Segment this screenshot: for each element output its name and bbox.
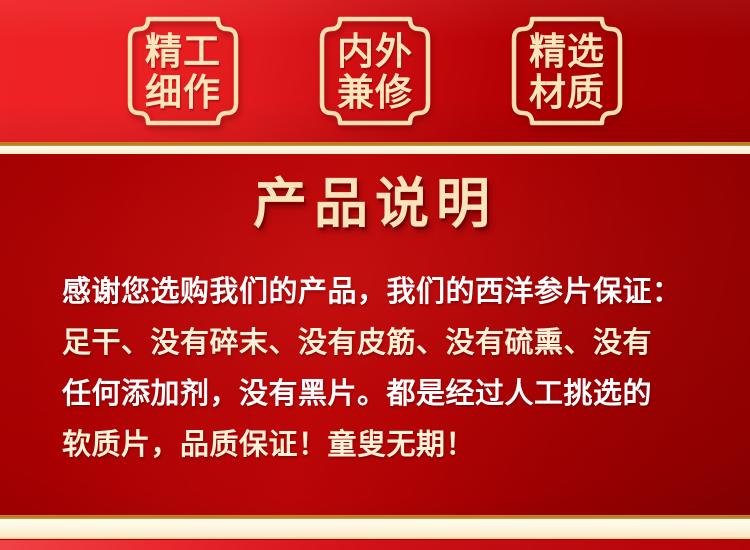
- feature-badge-3-line2: 材质: [529, 72, 605, 112]
- divider-cream-band: [0, 519, 750, 537]
- bottom-red-strip: [0, 540, 750, 550]
- page-title: 产品说明: [0, 172, 750, 234]
- bottom-gold-divider: [0, 515, 750, 540]
- feature-badge-1-line1: 精工: [145, 31, 221, 71]
- feature-badge-row: 精工 细作 内外 兼修 精选 材质: [0, 0, 750, 142]
- product-description-poster: 精工 细作 内外 兼修 精选 材质: [0, 0, 750, 550]
- feature-badge-2-text: 内外 兼修: [318, 15, 432, 127]
- body-line-4: 软质片，品质保证！童叟无期！: [62, 419, 702, 470]
- top-gold-divider: [0, 142, 750, 154]
- product-description-body: 感谢您选购我们的产品，我们的西洋参片保证： 足干、没有碎末、没有皮筋、没有硫熏、…: [62, 266, 702, 470]
- feature-badge-1-text: 精工 细作: [126, 15, 240, 127]
- feature-badge-2: 内外 兼修: [318, 15, 432, 127]
- feature-badge-1-line2: 细作: [145, 72, 221, 112]
- feature-badge-2-line1: 内外: [337, 31, 413, 71]
- feature-badge-1: 精工 细作: [126, 15, 240, 127]
- feature-badge-3: 精选 材质: [510, 15, 624, 127]
- divider-thin-line: [0, 537, 750, 539]
- body-line-2: 足干、没有碎末、没有皮筋、没有硫熏、没有: [62, 317, 702, 368]
- feature-badge-3-line1: 精选: [529, 31, 605, 71]
- feature-badge-2-line2: 兼修: [337, 72, 413, 112]
- body-line-1: 感谢您选购我们的产品，我们的西洋参片保证：: [62, 266, 702, 317]
- main-panel-content: 产品说明 感谢您选购我们的产品，我们的西洋参片保证： 足干、没有碎末、没有皮筋、…: [0, 154, 750, 515]
- body-line-3: 任何添加剂，没有黑片。都是经过人工挑选的: [62, 368, 702, 419]
- feature-badge-3-text: 精选 材质: [510, 15, 624, 127]
- divider-cream-band: [0, 146, 750, 154]
